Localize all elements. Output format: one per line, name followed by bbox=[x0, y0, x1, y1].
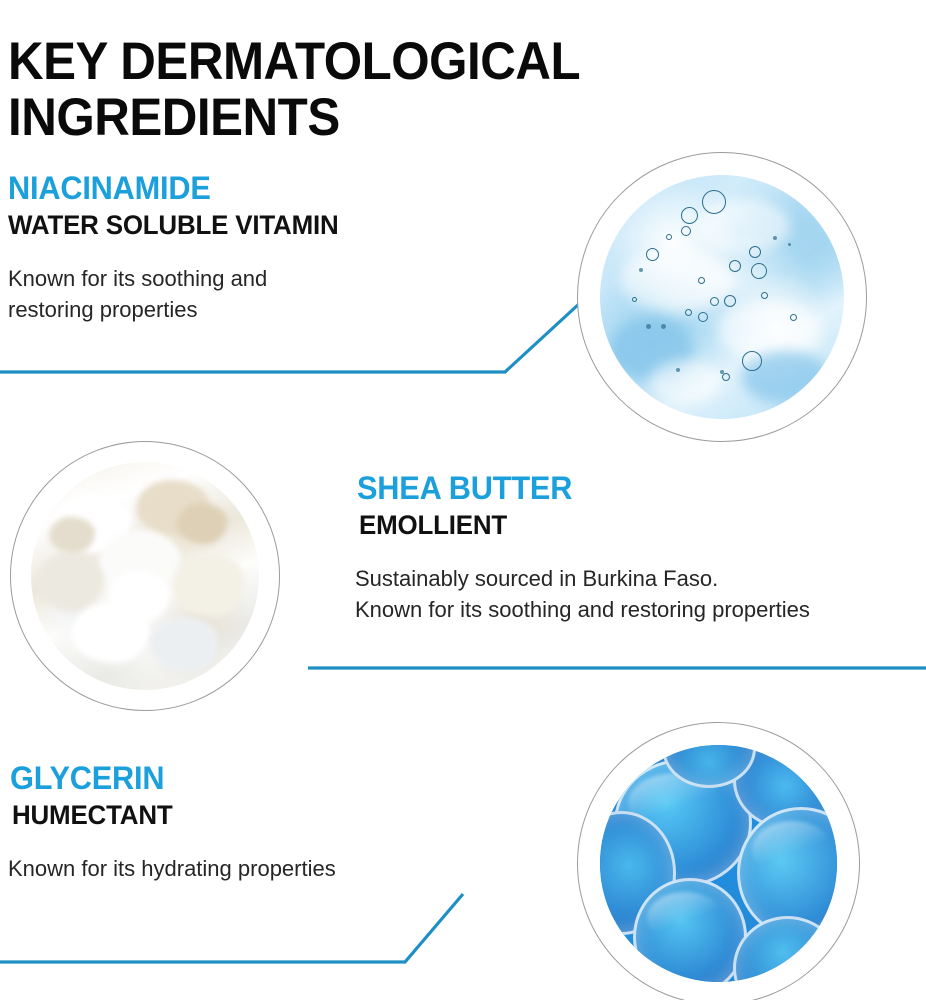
ingredient-block-niacinamide: NIACINAMIDE WATER SOLUBLE VITAMIN Known … bbox=[8, 170, 568, 325]
ingredient-description-glycerin: Known for its hydrating properties bbox=[8, 853, 568, 884]
ingredient-description-niacinamide: Known for its soothing and restoring pro… bbox=[8, 263, 568, 325]
ingredient-type-glycerin: HUMECTANT bbox=[12, 799, 546, 831]
page-title: KEY DERMATOLOGICAL INGREDIENTS bbox=[8, 34, 733, 146]
ingredient-type-shea-butter: EMOLLIENT bbox=[359, 509, 904, 541]
swatch-niacinamide bbox=[600, 175, 844, 419]
ingredients-infographic: KEY DERMATOLOGICAL INGREDIENTS NIACINAMI… bbox=[0, 0, 926, 1000]
ingredient-image-niacinamide bbox=[577, 152, 867, 442]
ingredient-type-niacinamide: WATER SOLUBLE VITAMIN bbox=[8, 209, 546, 241]
connector-line-glycerin bbox=[0, 894, 463, 962]
ingredient-block-shea-butter: SHEA BUTTER EMOLLIENT Sustainably source… bbox=[357, 470, 926, 625]
ingredient-name-shea-butter: SHEA BUTTER bbox=[357, 470, 904, 506]
ingredient-block-glycerin: GLYCERIN HUMECTANT Known for its hydrati… bbox=[8, 760, 568, 884]
swatch-glycerin bbox=[600, 745, 837, 982]
ingredient-description-shea-butter: Sustainably sourced in Burkina Faso. Kno… bbox=[355, 563, 926, 625]
ingredient-name-glycerin: GLYCERIN bbox=[10, 760, 546, 796]
swatch-shea-butter bbox=[31, 462, 259, 690]
ingredient-image-glycerin bbox=[577, 722, 860, 1000]
ingredient-name-niacinamide: NIACINAMIDE bbox=[8, 170, 546, 206]
ingredient-image-shea-butter bbox=[10, 441, 280, 711]
